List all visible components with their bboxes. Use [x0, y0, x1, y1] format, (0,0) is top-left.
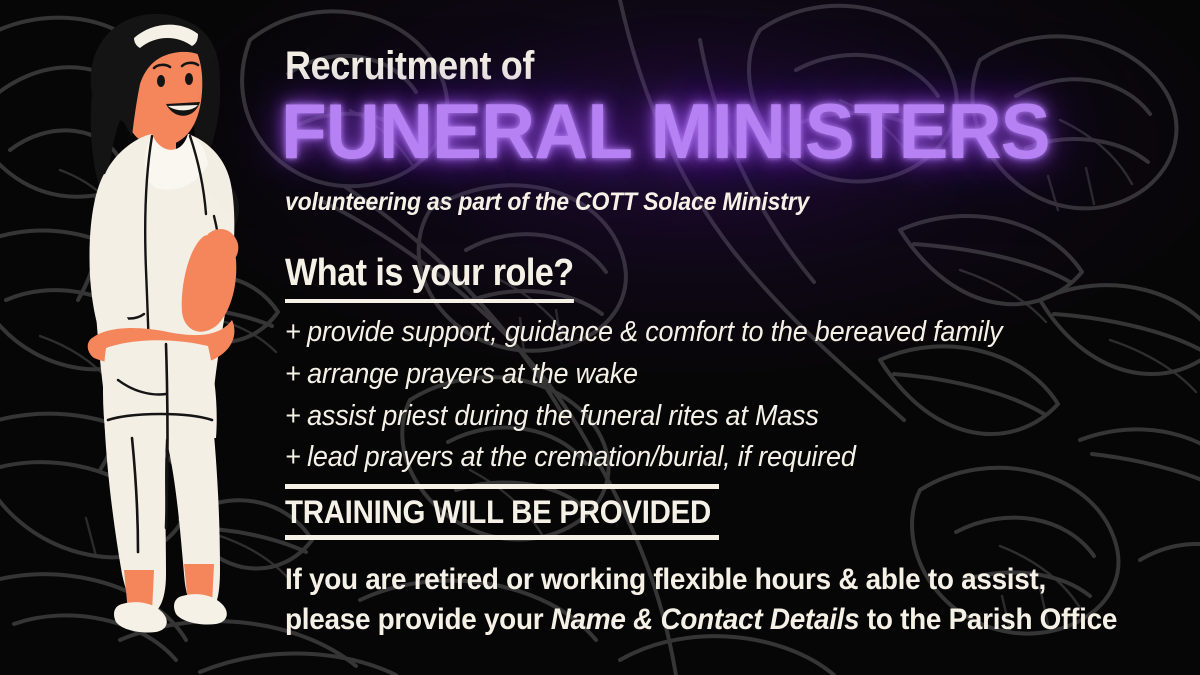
closing-emphasis: Name & Contact Details: [551, 603, 860, 636]
training-banner-label: TRAINING WILL BE PROVIDED: [285, 489, 684, 535]
list-item-label: lead prayers at the cremation/burial, if…: [307, 441, 856, 473]
subtitle-text: volunteering as part of the COTT Solace …: [285, 188, 809, 217]
section-heading-role: What is your role?: [285, 252, 574, 303]
bullet-marker-icon: +: [285, 400, 301, 432]
page-title: FUNERAL MINISTERS: [281, 92, 1050, 170]
bullet-marker-icon: +: [285, 316, 301, 348]
list-item-label: provide support, guidance & comfort to t…: [307, 316, 1002, 348]
woman-holding-book-illustration: [48, 8, 264, 668]
list-item: +provide support, guidance & comfort to …: [285, 312, 1103, 354]
rule-bottom: [285, 535, 719, 540]
poster-content: Recruitment of FUNERAL MINISTERS volunte…: [285, 0, 1185, 675]
closing-suffix: to the Parish Office: [859, 603, 1117, 636]
list-item: +lead prayers at the cremation/burial, i…: [285, 437, 1103, 479]
list-item-label: arrange prayers at the wake: [307, 358, 638, 390]
bullet-marker-icon: +: [285, 441, 301, 473]
poster-canvas: Recruitment of FUNERAL MINISTERS volunte…: [0, 0, 1200, 675]
closing-message: If you are retired or working flexible h…: [285, 560, 1155, 640]
closing-line-1: If you are retired or working flexible h…: [285, 560, 1094, 600]
list-item: +arrange prayers at the wake: [285, 354, 1103, 396]
closing-prefix: please provide your: [285, 603, 551, 636]
list-item: +assist priest during the funeral rites …: [285, 396, 1103, 438]
training-banner: TRAINING WILL BE PROVIDED: [285, 484, 719, 540]
list-item-label: assist priest during the funeral rites a…: [307, 400, 819, 432]
role-bullet-list: +provide support, guidance & comfort to …: [285, 312, 1165, 479]
bullet-marker-icon: +: [285, 358, 301, 390]
eyebrow-text: Recruitment of: [285, 44, 534, 89]
closing-line-2: please provide your Name & Contact Detai…: [285, 600, 1094, 640]
